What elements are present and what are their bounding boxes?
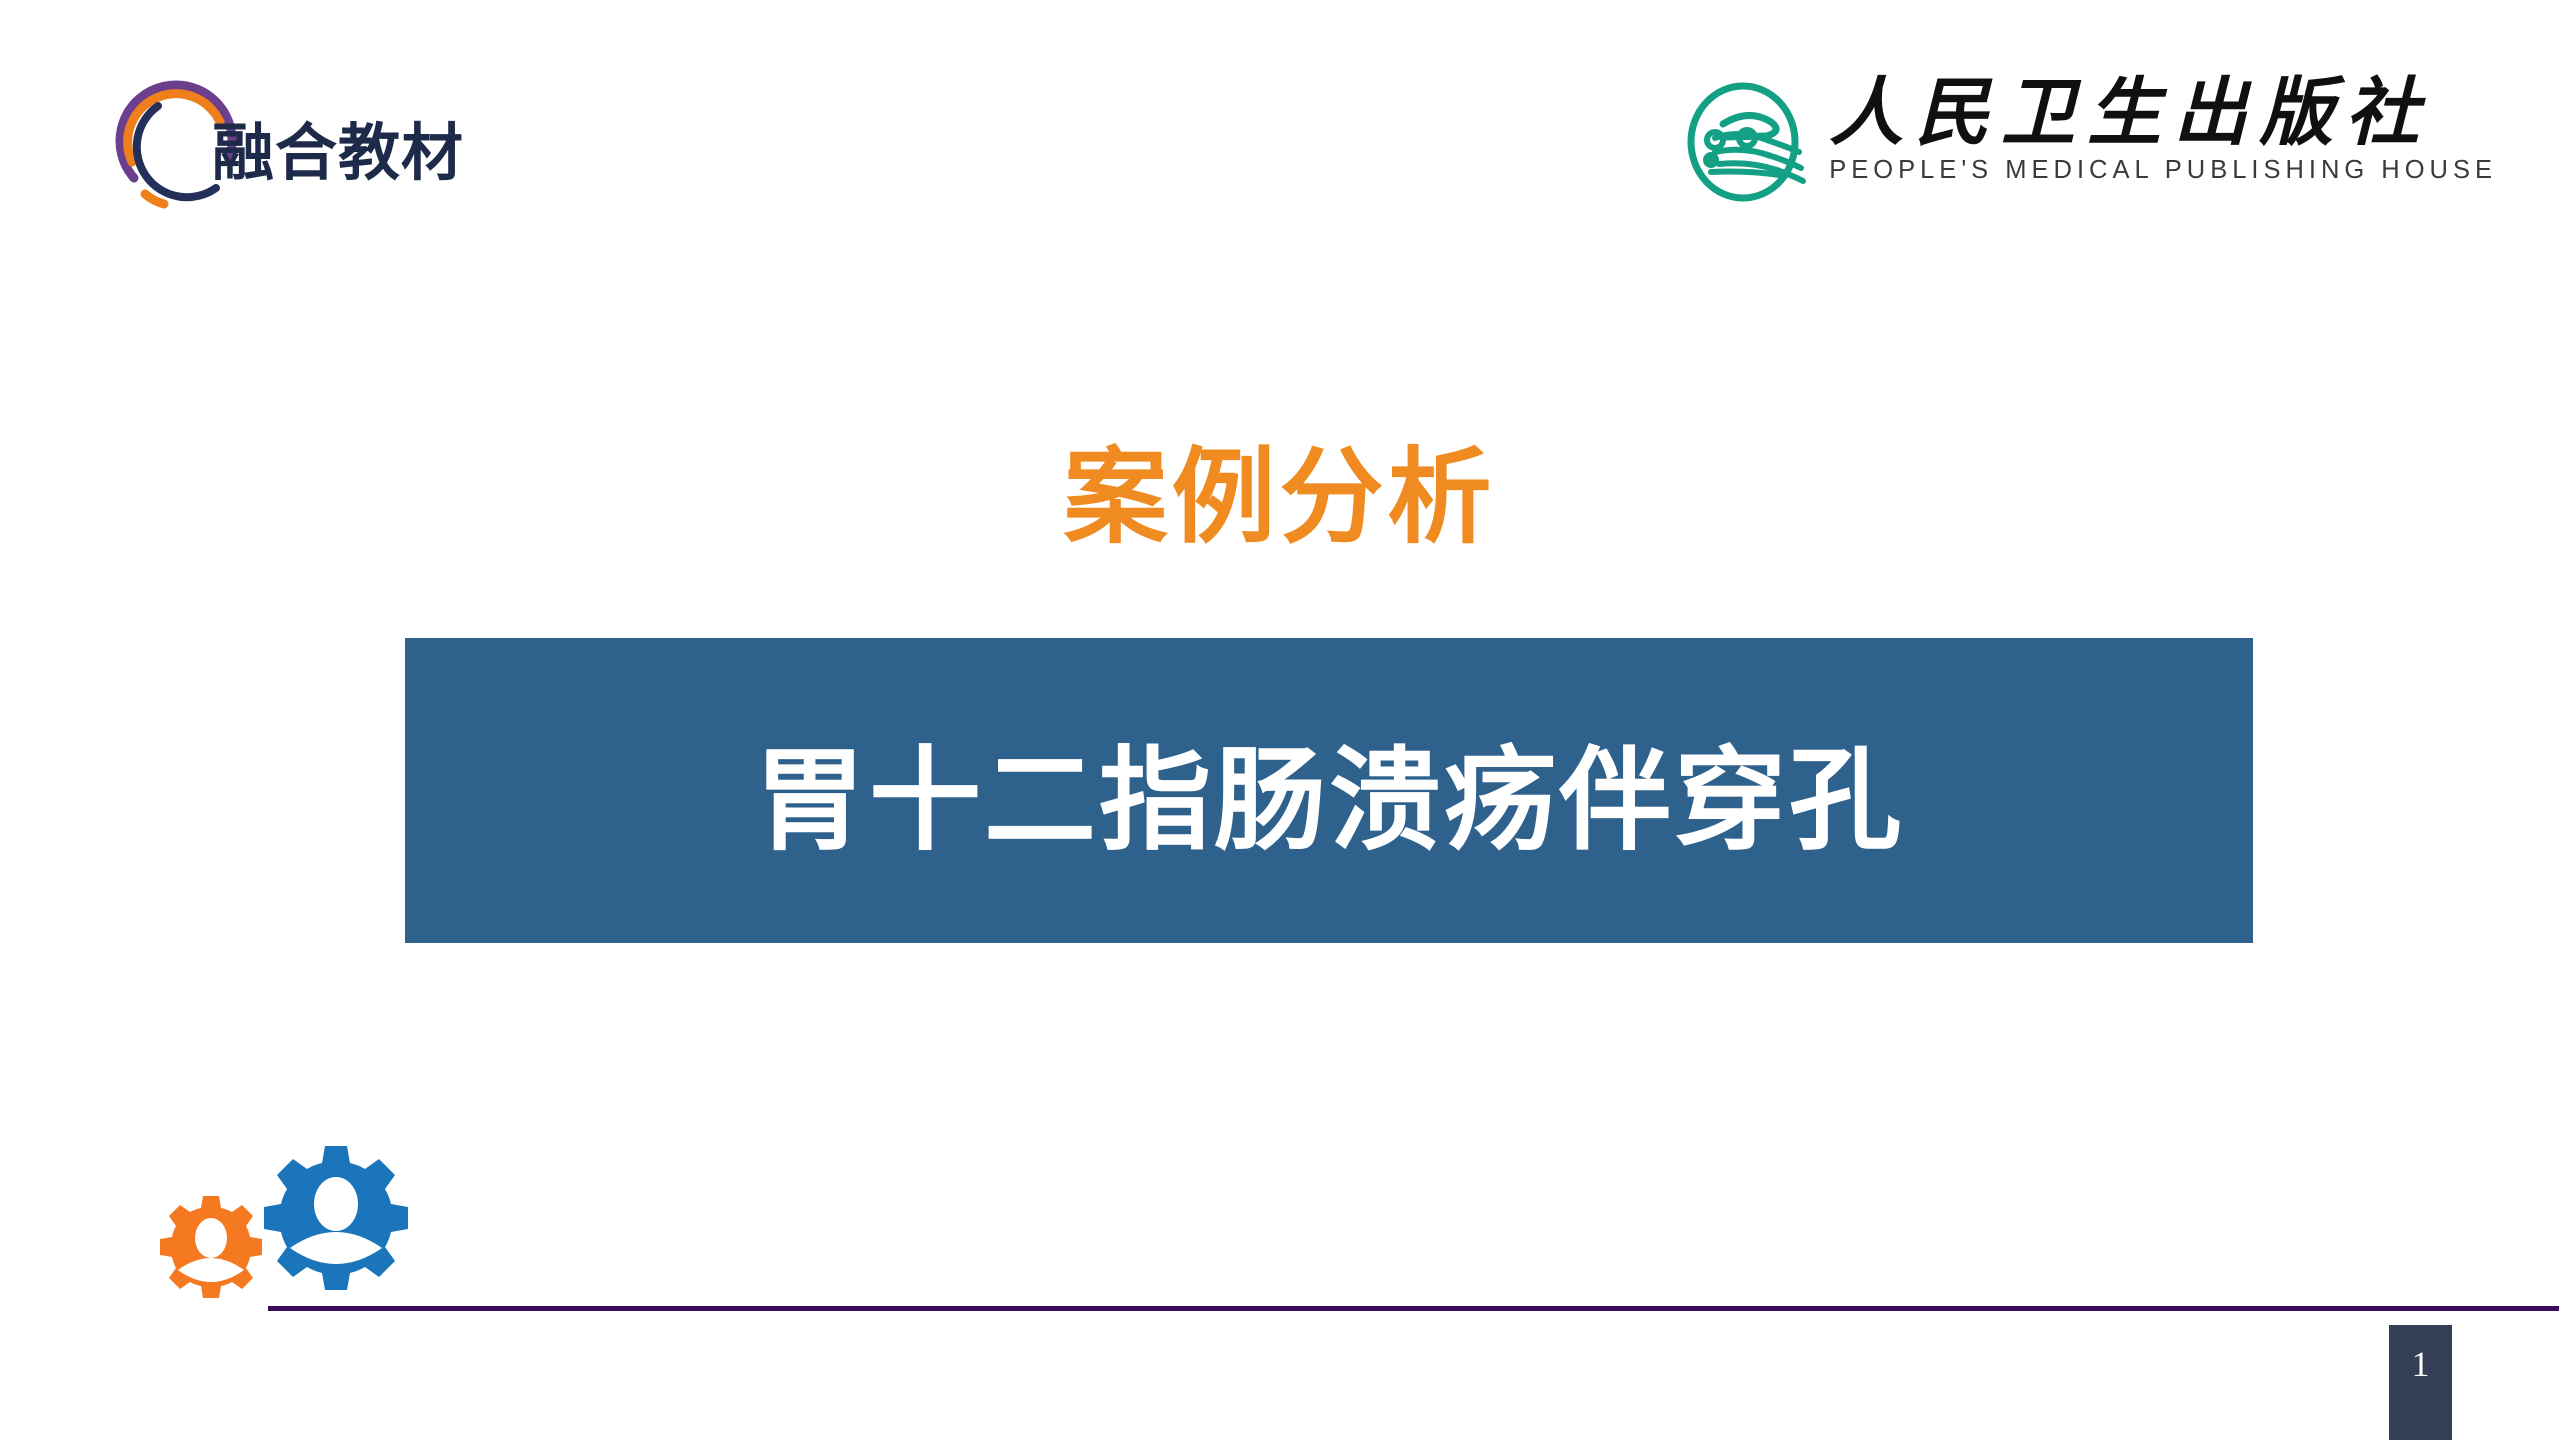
gear-front-orange (160, 1196, 262, 1298)
pmph-emblem-icon (1685, 80, 1813, 204)
publisher-name-en: PEOPLE'S MEDICAL PUBLISHING HOUSE (1829, 156, 2497, 185)
brand-left-logo: 融合教材 (112, 62, 432, 212)
brand-left-label: 融合教材 (212, 102, 464, 192)
page-title: 案例分析 (0, 440, 2559, 554)
topic-banner-label: 胃十二指肠溃疡伴穿孔 (754, 710, 1904, 872)
footer-divider (268, 1306, 2559, 1311)
slide-canvas: 融合教材 人民卫生出版社 PEOPLE'S MEDICAL PUBLISHING… (0, 0, 2559, 1440)
gear-back-blue (264, 1146, 408, 1290)
page-number-badge: 1 (2389, 1325, 2452, 1440)
topic-banner: 胃十二指肠溃疡伴穿孔 (405, 638, 2253, 943)
publisher-wordmark: 人民卫生出版社 PEOPLE'S MEDICAL PUBLISHING HOUS… (1829, 78, 2497, 185)
publisher-logo: 人民卫生出版社 PEOPLE'S MEDICAL PUBLISHING HOUS… (1685, 78, 2497, 218)
two-gears-with-person-icon (140, 1118, 410, 1318)
publisher-name-cn: 人民卫生出版社 (1829, 78, 2431, 148)
